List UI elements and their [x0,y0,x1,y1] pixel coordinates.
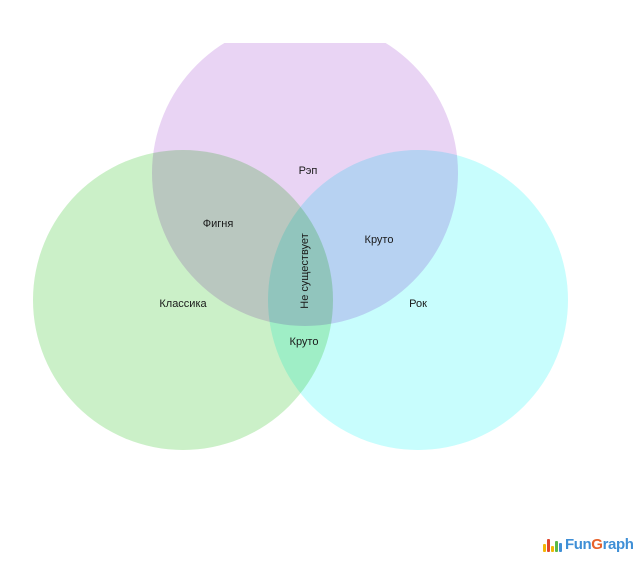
brand-bar-1 [547,539,550,552]
brand-bar-4 [559,543,562,552]
fungraph-logo[interactable]: FunGraph [543,531,633,557]
brand-name: FunGraph [565,537,633,552]
venn-circle-rock[interactable] [268,150,568,450]
bar-chart-icon [543,537,562,552]
brand-name-raph: raph [603,536,634,553]
venn-figure: Рэп Классика Рок Фигня Круто Круто Не су… [0,0,640,520]
top-clip-mask [0,0,640,43]
brand-bar-0 [543,544,546,552]
venn-circles [0,0,640,520]
venn-diagram-page: Парадокс Рэп Классика Рок Фигня Круто Кр… [0,0,640,565]
brand-bar-3 [555,541,558,552]
brand-name-fun: Fun [565,536,591,553]
brand-name-g: G [591,536,602,553]
brand-bar-2 [551,546,554,552]
